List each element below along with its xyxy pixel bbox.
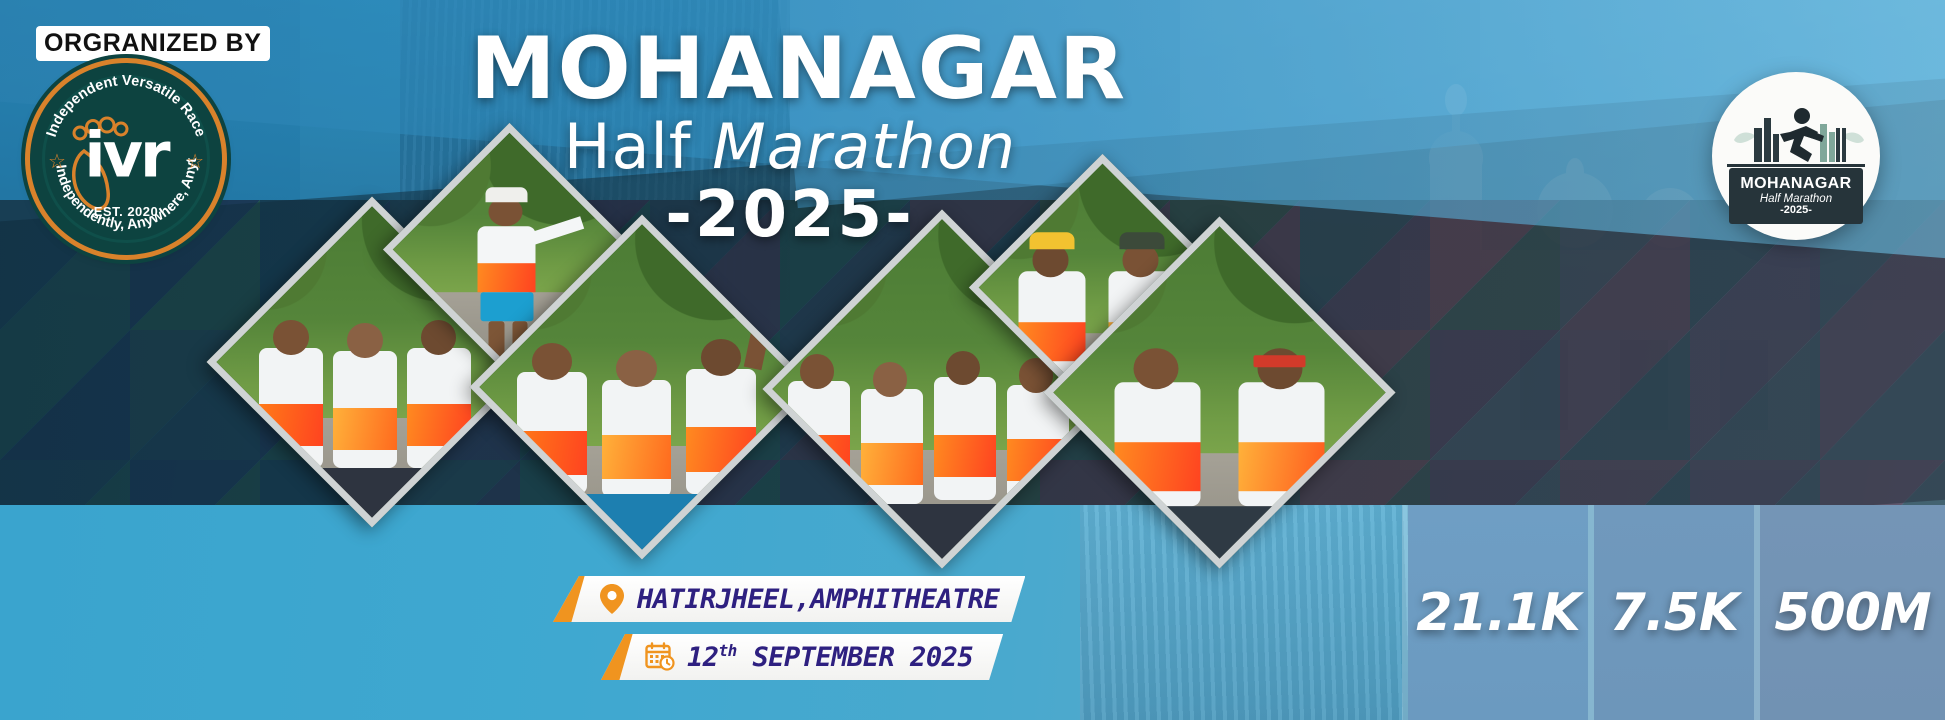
badge-divider: [1727, 164, 1865, 167]
event-logo-badge: MOHANAGAR Half Marathon -2025-: [1712, 72, 1880, 240]
venue-text: HATIRJHEEL,AMPHITHEATRE: [637, 584, 999, 615]
distance-chip-21-1k[interactable]: 21.1K: [1408, 505, 1588, 720]
date-day: 12: [687, 642, 719, 673]
badge-subtitle: Half Marathon: [1760, 193, 1832, 205]
runner-skyline-icon: [1732, 106, 1866, 162]
event-subtitle: Half Marathon: [470, 114, 1110, 179]
venue-badge[interactable]: HATIRJHEEL,AMPHITHEATRE: [553, 576, 1025, 622]
organized-by-label: ORGRANIZED BY: [38, 28, 268, 59]
event-banner: ORGRANIZED BY Independent Versatile Race…: [0, 0, 1945, 720]
logo-star-left-icon: ☆: [48, 149, 66, 174]
date-text: 12th SEPTEMBER 2025: [687, 641, 973, 673]
date-rest: SEPTEMBER 2025: [737, 642, 973, 673]
event-title: MOHANAGAR: [470, 26, 1110, 112]
date-ordinal: th: [719, 641, 737, 660]
badge-title: MOHANAGAR: [1740, 176, 1851, 193]
event-subtitle-marathon: Marathon: [712, 110, 1016, 183]
badge-year: -2025-: [1780, 205, 1812, 217]
event-subtitle-half: Half: [564, 110, 712, 183]
date-badge[interactable]: 12th SEPTEMBER 2025: [601, 634, 1003, 680]
logo-established: EST. 2020: [30, 204, 222, 219]
badge-nameplate: MOHANAGAR Half Marathon -2025-: [1729, 168, 1863, 224]
logo-star-right-icon: ☆: [186, 149, 204, 174]
distance-chip-7-5k[interactable]: 7.5K: [1594, 505, 1754, 720]
calendar-clock-icon: [645, 642, 675, 672]
distance-chip-500m[interactable]: 500M: [1760, 505, 1945, 720]
organizer-logo: Independent Versatile Race Run Independe…: [30, 63, 222, 255]
location-pin-icon: [599, 583, 625, 615]
distance-chips: 21.1K 7.5K 500M: [1402, 505, 1945, 720]
